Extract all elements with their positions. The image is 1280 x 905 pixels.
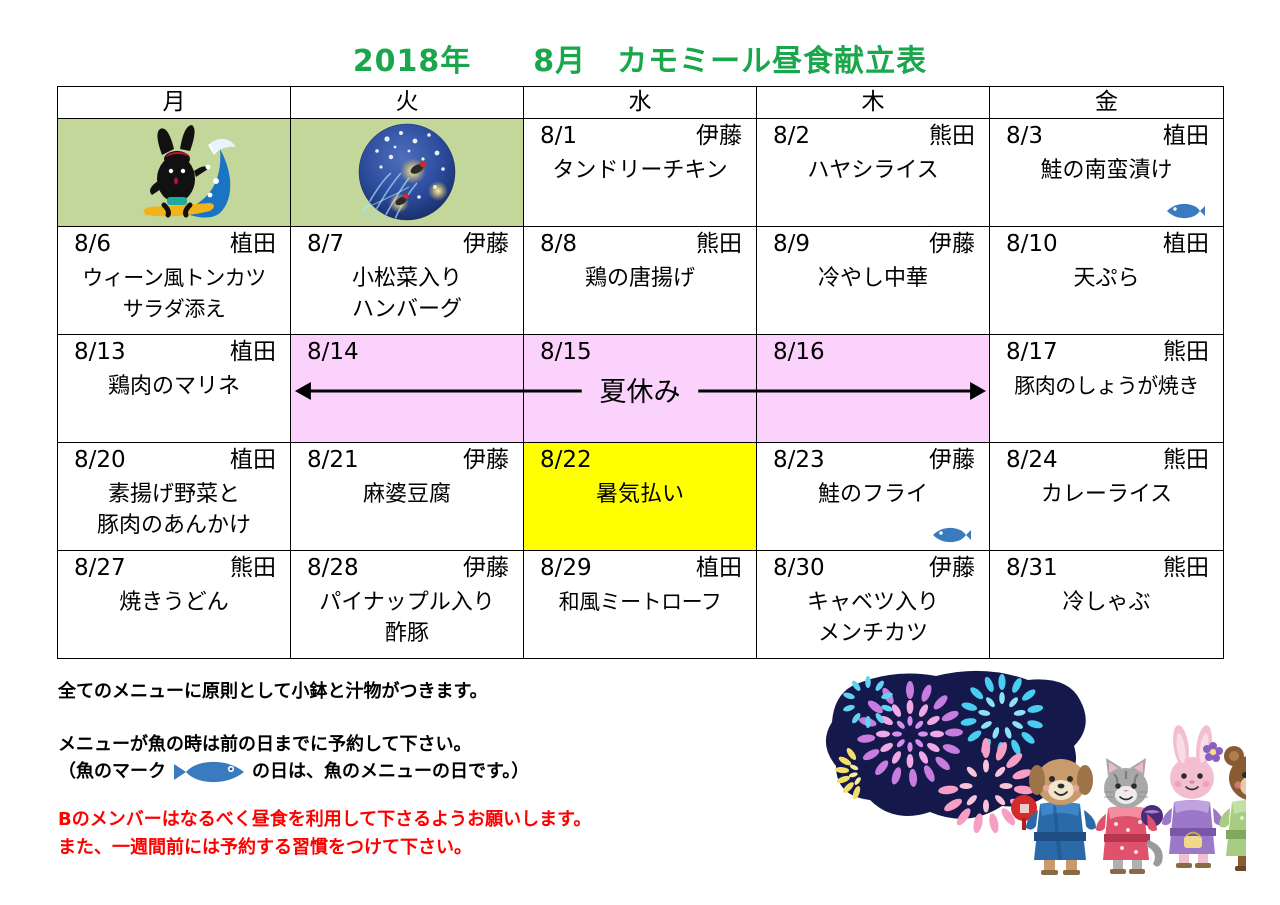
day-date: 8/9 <box>773 230 810 258</box>
day-staff: 植田 <box>230 446 276 474</box>
day-staff: 伊藤 <box>463 446 509 474</box>
day-cell-header: 8/15 <box>524 335 756 366</box>
day-date: 8/16 <box>773 338 825 366</box>
day-dish: 天ぷら <box>990 258 1223 294</box>
calendar-week-row: 8/27 熊田 焼きうどん 8/28 伊藤 パイナップル入り 酢豚 8/29 植… <box>58 551 1224 659</box>
day-date: 8/14 <box>307 338 359 366</box>
fish-icon <box>931 526 971 544</box>
calendar-week-row: 8/6 植田 ウィーン風トンカツ サラダ添え 8/7 伊藤 小松菜入り ハンバー… <box>58 227 1224 335</box>
day-staff: 植田 <box>230 230 276 258</box>
holiday-cell: 8/14 <box>291 335 524 443</box>
fish-icon <box>172 759 246 785</box>
day-dish: 鮭の南蛮漬け <box>990 150 1223 186</box>
day-date: 8/22 <box>540 446 592 474</box>
calendar-week-row: 8/1 伊藤 タンドリーチキン 8/2 熊田 ハヤシライス 8/3 植田 鮭の南… <box>58 119 1224 227</box>
day-cell: 8/7 伊藤 小松菜入り ハンバーグ <box>291 227 524 335</box>
day-date: 8/23 <box>773 446 825 474</box>
day-staff: 熊田 <box>929 122 975 150</box>
day-staff: 伊藤 <box>929 230 975 258</box>
day-cell: 8/10 植田 天ぷら <box>990 227 1224 335</box>
day-cell-header: 8/21 伊藤 <box>291 443 523 474</box>
day-cell-header: 8/8 熊田 <box>524 227 756 258</box>
day-staff: 熊田 <box>1163 338 1209 366</box>
day-dish: 鮭のフライ <box>757 474 989 510</box>
day-cell: 8/30 伊藤 キャベツ入り メンチカツ <box>757 551 990 659</box>
day-date: 8/17 <box>1006 338 1058 366</box>
illustration-cell-surfing-rabbit <box>58 119 291 227</box>
day-staff: 植田 <box>696 554 742 582</box>
footer-notes: 全てのメニューに原則として小鉢と汁物がつきます。 メニューが魚の時は前の日までに… <box>58 678 818 785</box>
day-cell-header: 8/28 伊藤 <box>291 551 523 582</box>
day-dish: 焼きうどん <box>58 582 290 618</box>
day-cell: 8/31 熊田 冷しゃぶ <box>990 551 1224 659</box>
day-cell: 8/24 熊田 カレーライス <box>990 443 1224 551</box>
day-dish: 和風ミートローフ <box>524 582 756 618</box>
day-cell: 8/2 熊田 ハヤシライス <box>757 119 990 227</box>
weekday-header-fri: 金 <box>990 87 1224 119</box>
day-cell-header: 8/2 熊田 <box>757 119 989 150</box>
day-cell: 8/27 熊田 焼きうどん <box>58 551 291 659</box>
day-date: 8/29 <box>540 554 592 582</box>
day-dish: ウィーン風トンカツ サラダ添え <box>58 258 290 325</box>
bear-in-yukata <box>1219 746 1246 871</box>
day-cell-header: 8/16 <box>757 335 989 366</box>
day-date: 8/1 <box>540 122 577 150</box>
day-cell: 8/28 伊藤 パイナップル入り 酢豚 <box>291 551 524 659</box>
day-date: 8/6 <box>74 230 111 258</box>
note-red-line-2: また、一週間前には予約する習慣をつけて下さい。 <box>58 834 818 862</box>
day-dish: タンドリーチキン <box>524 150 756 186</box>
holiday-cell-banner: 8/15 夏休み <box>524 335 757 443</box>
day-dish: 鶏の唐揚げ <box>524 258 756 294</box>
note-spacer <box>58 705 818 731</box>
note-line-1: 全てのメニューに原則として小鉢と汁物がつきます。 <box>58 678 818 705</box>
day-cell-header: 8/6 植田 <box>58 227 290 258</box>
weekday-header-row: 月 火 水 木 金 <box>58 87 1224 119</box>
day-date: 8/7 <box>307 230 344 258</box>
day-staff: 伊藤 <box>929 554 975 582</box>
day-staff: 植田 <box>230 338 276 366</box>
fireworks-and-yukata-animals-icon <box>806 668 1246 888</box>
day-date: 8/15 <box>540 338 592 366</box>
cat-in-yukata <box>1096 758 1163 874</box>
day-cell-header: 8/13 植田 <box>58 335 290 366</box>
day-date: 8/27 <box>74 554 126 582</box>
weekday-header-wed: 水 <box>524 87 757 119</box>
day-dish: パイナップル入り 酢豚 <box>291 582 523 649</box>
day-dish: 小松菜入り ハンバーグ <box>291 258 523 325</box>
day-cell-header: 8/27 熊田 <box>58 551 290 582</box>
event-cell: 8/22 暑気払い <box>524 443 757 551</box>
menu-calendar: 月 火 水 木 金 <box>57 86 1224 659</box>
day-date: 8/3 <box>1006 122 1043 150</box>
weekday-header-mon: 月 <box>58 87 291 119</box>
day-cell: 8/8 熊田 鶏の唐揚げ <box>524 227 757 335</box>
day-cell: 8/3 植田 鮭の南蛮漬け <box>990 119 1224 227</box>
day-date: 8/2 <box>773 122 810 150</box>
day-dish: 冷しゃぶ <box>990 582 1223 618</box>
day-cell: 8/9 伊藤 冷やし中華 <box>757 227 990 335</box>
day-cell-header: 8/22 <box>524 443 756 474</box>
day-cell-header: 8/20 植田 <box>58 443 290 474</box>
day-cell: 8/23 伊藤 鮭のフライ <box>757 443 990 551</box>
day-cell-header: 8/17 熊田 <box>990 335 1223 366</box>
day-date: 8/28 <box>307 554 359 582</box>
day-staff: 伊藤 <box>696 122 742 150</box>
footer-notes-important: Bのメンバーはなるべく昼食を利用して下さるようお願いします。 また、一週間前には… <box>58 806 818 862</box>
day-dish: 冷やし中華 <box>757 258 989 294</box>
day-dish: 素揚げ野菜と 豚肉のあんかけ <box>58 474 290 541</box>
day-cell-header: 8/23 伊藤 <box>757 443 989 474</box>
summer-break-label: 夏休み <box>524 377 756 409</box>
note-red-line-1: Bのメンバーはなるべく昼食を利用して下さるようお願いします。 <box>58 806 818 834</box>
day-cell: 8/29 植田 和風ミートローフ <box>524 551 757 659</box>
day-cell-header: 8/24 熊田 <box>990 443 1223 474</box>
day-cell: 8/20 植田 素揚げ野菜と 豚肉のあんかけ <box>58 443 291 551</box>
day-cell-header: 8/1 伊藤 <box>524 119 756 150</box>
day-cell-header: 8/29 植田 <box>524 551 756 582</box>
day-date: 8/20 <box>74 446 126 474</box>
fireflies-night-icon <box>291 119 524 226</box>
day-dish: 麻婆豆腐 <box>291 474 523 510</box>
calendar-week-row: 8/20 植田 素揚げ野菜と 豚肉のあんかけ 8/21 伊藤 麻婆豆腐 8/22… <box>58 443 1224 551</box>
surfing-rabbit-icon <box>58 119 291 226</box>
illustration-cell-fireflies <box>291 119 524 227</box>
day-date: 8/21 <box>307 446 359 474</box>
day-date: 8/30 <box>773 554 825 582</box>
day-date: 8/31 <box>1006 554 1058 582</box>
day-staff: 熊田 <box>696 230 742 258</box>
weekday-header-thu: 木 <box>757 87 990 119</box>
day-cell: 8/6 植田 ウィーン風トンカツ サラダ添え <box>58 227 291 335</box>
day-staff: 伊藤 <box>463 230 509 258</box>
rabbit-in-yukata <box>1162 724 1223 868</box>
holiday-cell: 8/16 <box>757 335 990 443</box>
note-line-2: メニューが魚の時は前の日までに予約して下さい。 <box>58 731 818 758</box>
day-date: 8/8 <box>540 230 577 258</box>
day-dish: 鶏肉のマリネ <box>58 366 290 402</box>
note-line-3: （魚のマーク の日は、魚のメニューの日です。） <box>58 758 818 785</box>
note-line-3-after: の日は、魚のメニューの日です。） <box>252 758 529 785</box>
day-dish: カレーライス <box>990 474 1223 510</box>
day-cell-header: 8/31 熊田 <box>990 551 1223 582</box>
day-cell-header: 8/14 <box>291 335 523 366</box>
note-line-3-before: （魚のマーク <box>58 758 166 785</box>
day-cell-header: 8/3 植田 <box>990 119 1223 150</box>
day-cell: 8/13 植田 鶏肉のマリネ <box>58 335 291 443</box>
fish-icon <box>1165 202 1205 220</box>
page-title: 2018年 8月 カモミール昼食献立表 <box>0 36 1280 80</box>
day-date: 8/24 <box>1006 446 1058 474</box>
day-staff: 熊田 <box>1163 446 1209 474</box>
day-staff: 伊藤 <box>929 446 975 474</box>
day-cell-header: 8/9 伊藤 <box>757 227 989 258</box>
day-dish: 豚肉のしょうが焼き <box>990 366 1223 402</box>
day-dish: 暑気払い <box>524 474 756 510</box>
day-cell-header: 8/7 伊藤 <box>291 227 523 258</box>
day-dish: キャベツ入り メンチカツ <box>757 582 989 649</box>
day-cell-header: 8/30 伊藤 <box>757 551 989 582</box>
day-dish: ハヤシライス <box>757 150 989 186</box>
day-staff: 植田 <box>1163 230 1209 258</box>
day-date: 8/10 <box>1006 230 1058 258</box>
day-staff: 熊田 <box>230 554 276 582</box>
day-cell-header: 8/10 植田 <box>990 227 1223 258</box>
day-staff: 伊藤 <box>463 554 509 582</box>
day-cell: 8/17 熊田 豚肉のしょうが焼き <box>990 335 1224 443</box>
festival-illustration <box>806 668 1246 888</box>
day-staff: 植田 <box>1163 122 1209 150</box>
day-cell: 8/21 伊藤 麻婆豆腐 <box>291 443 524 551</box>
calendar-week-row: 8/13 植田 鶏肉のマリネ 8/14 8/15 <box>58 335 1224 443</box>
day-date: 8/13 <box>74 338 126 366</box>
day-cell: 8/1 伊藤 タンドリーチキン <box>524 119 757 227</box>
weekday-header-tue: 火 <box>291 87 524 119</box>
day-staff: 熊田 <box>1163 554 1209 582</box>
